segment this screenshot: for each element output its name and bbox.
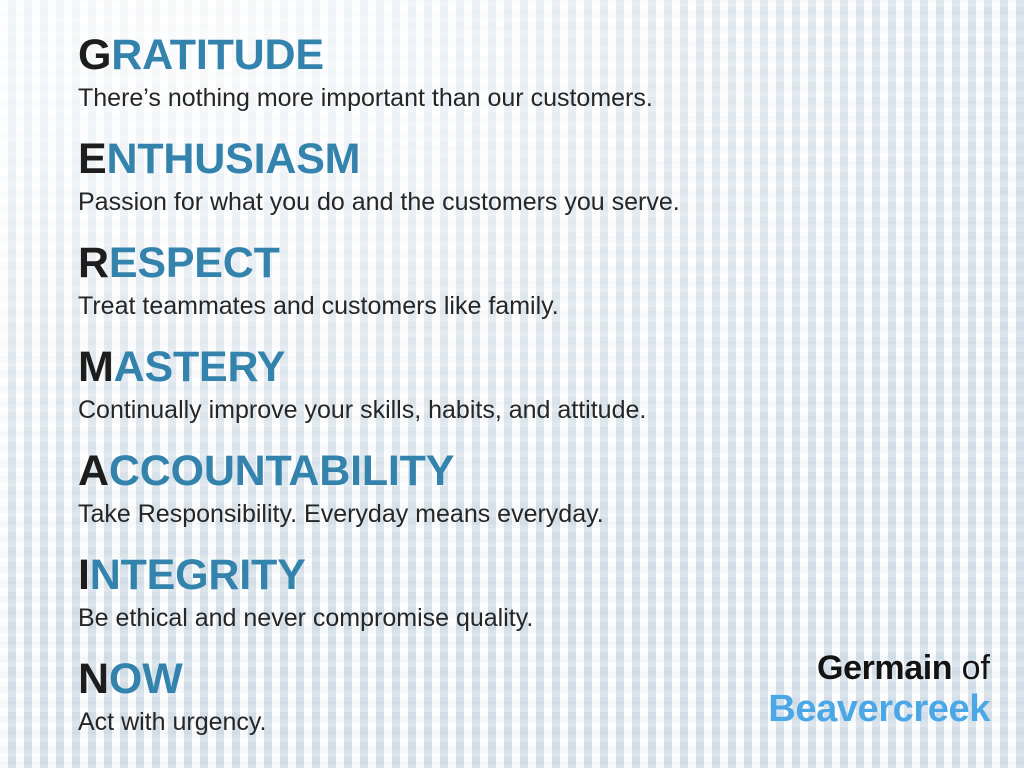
value-block-integrity: INTEGRITY Be ethical and never compromis…: [78, 552, 978, 635]
value-heading-remainder: ASTERY: [114, 343, 286, 391]
values-list: GRATITUDE There’s nothing more important…: [78, 32, 978, 739]
core-values-slide: GRATITUDE There’s nothing more important…: [0, 0, 1024, 768]
value-initial-letter: E: [78, 135, 106, 183]
value-heading-remainder: OW: [109, 655, 183, 703]
logo-brand-name: Germain: [817, 649, 952, 687]
value-heading-accountability: ACCOUNTABILITY: [78, 448, 978, 495]
value-heading-enthusiasm: ENTHUSIASM: [78, 136, 978, 183]
value-description-gratitude: There’s nothing more important than our …: [78, 82, 978, 115]
value-description-accountability: Take Responsibility. Everyday means ever…: [78, 498, 978, 531]
logo-location-name: Beavercreek: [768, 688, 990, 730]
value-initial-letter: R: [78, 239, 109, 287]
value-block-respect: RESPECT Treat teammates and customers li…: [78, 240, 978, 323]
logo-connector-word: of: [962, 649, 990, 687]
value-heading-respect: RESPECT: [78, 240, 978, 287]
value-description-integrity: Be ethical and never compromise quality.: [78, 602, 978, 635]
value-heading-gratitude: GRATITUDE: [78, 32, 978, 79]
value-description-enthusiasm: Passion for what you do and the customer…: [78, 186, 978, 219]
value-block-accountability: ACCOUNTABILITY Take Responsibility. Ever…: [78, 448, 978, 531]
value-initial-letter: N: [78, 655, 109, 703]
value-initial-letter: A: [78, 447, 109, 495]
value-heading-remainder: NTHUSIASM: [106, 135, 360, 183]
value-heading-integrity: INTEGRITY: [78, 552, 978, 599]
value-block-gratitude: GRATITUDE There’s nothing more important…: [78, 32, 978, 115]
value-heading-remainder: CCOUNTABILITY: [109, 447, 454, 495]
value-description-respect: Treat teammates and customers like famil…: [78, 290, 978, 323]
value-heading-mastery: MASTERY: [78, 344, 978, 391]
value-description-mastery: Continually improve your skills, habits,…: [78, 394, 978, 427]
dealership-logo: Germain of Beavercreek: [768, 649, 990, 730]
logo-primary-line: Germain of: [768, 649, 990, 687]
value-initial-letter: G: [78, 31, 111, 79]
value-heading-remainder: RATITUDE: [111, 31, 324, 79]
value-initial-letter: I: [78, 551, 90, 599]
value-block-mastery: MASTERY Continually improve your skills,…: [78, 344, 978, 427]
value-heading-remainder: ESPECT: [109, 239, 280, 287]
value-block-enthusiasm: ENTHUSIASM Passion for what you do and t…: [78, 136, 978, 219]
value-initial-letter: M: [78, 343, 114, 391]
value-heading-remainder: NTEGRITY: [90, 551, 306, 599]
